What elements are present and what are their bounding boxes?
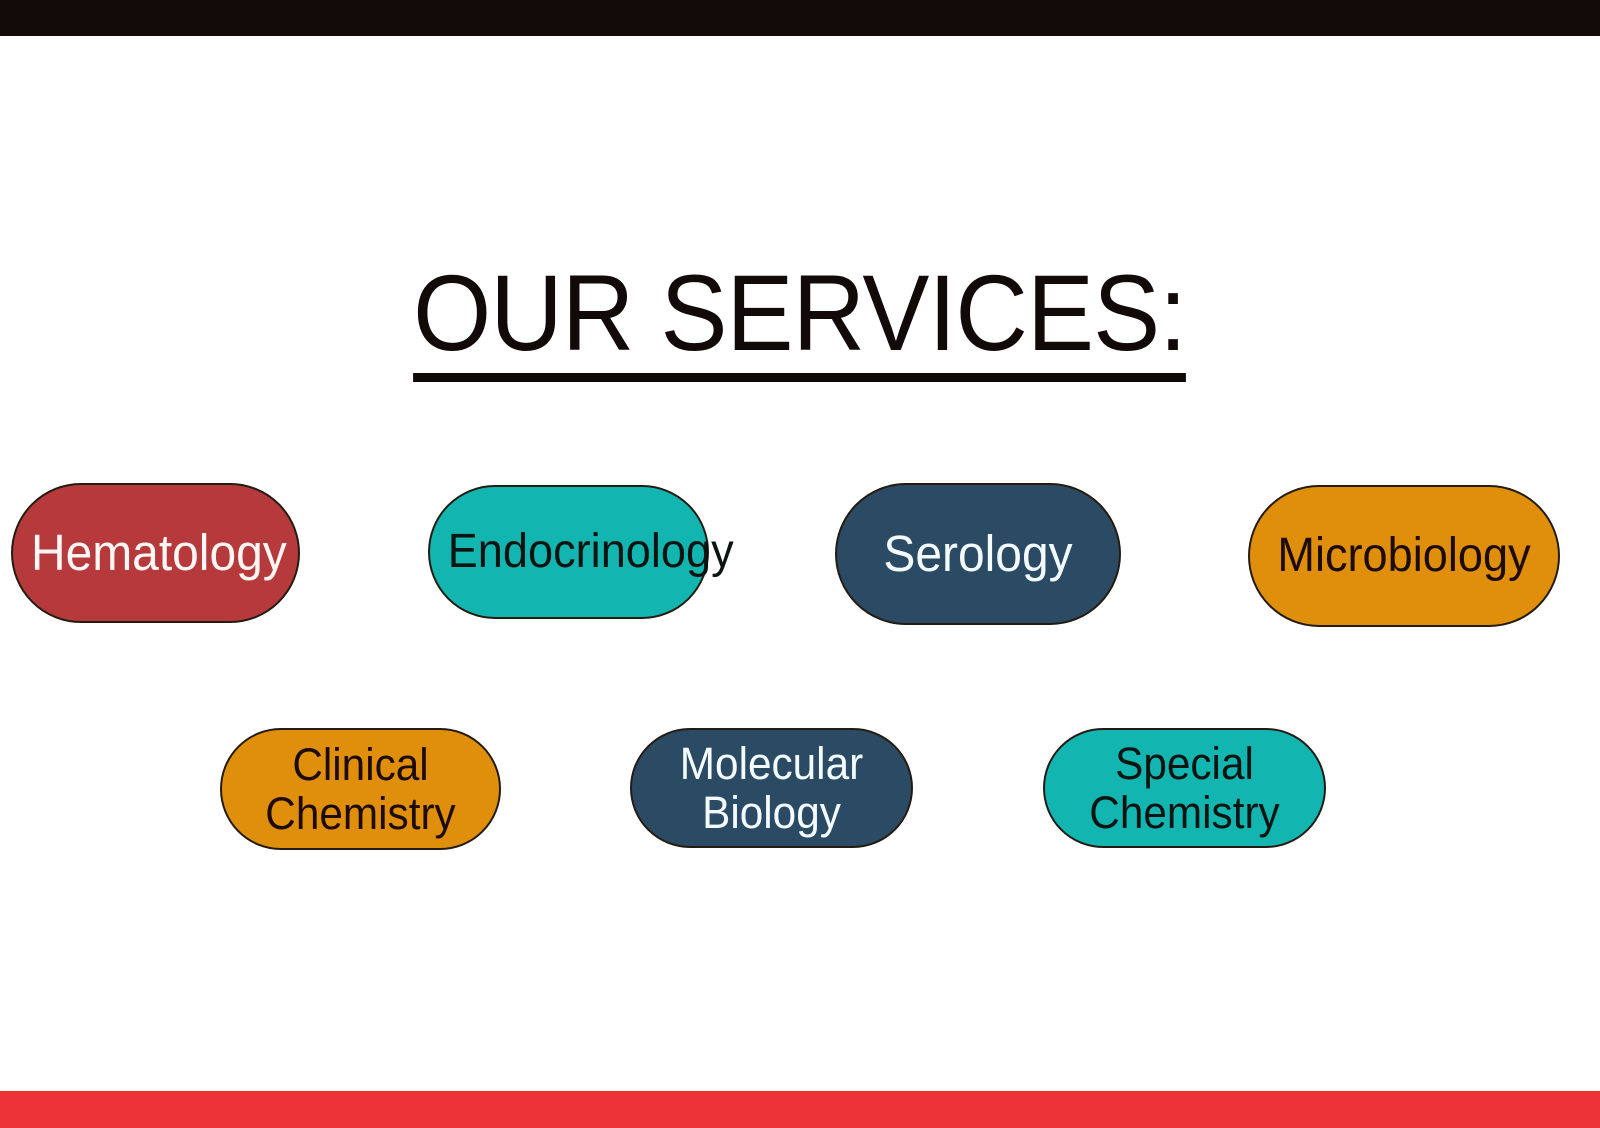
service-pill-serology[interactable]: Serology	[835, 483, 1121, 625]
service-label-serology: Serology	[855, 526, 1101, 582]
service-label-molecular-biology: Molecular Biology	[650, 739, 893, 838]
service-label-special-chemistry: Special Chemistry	[1063, 739, 1306, 838]
service-label-endocrinology: Endocrinology	[448, 526, 690, 579]
bottom-decorative-bar	[0, 1091, 1600, 1128]
service-pill-clinical-chemistry[interactable]: Clinical Chemistry	[220, 728, 501, 850]
slide-canvas: OUR SERVICES: Hematology Endocrinology S…	[0, 0, 1600, 1128]
service-pill-endocrinology[interactable]: Endocrinology	[428, 485, 709, 619]
page-title: OUR SERVICES:	[413, 256, 1186, 382]
service-pill-molecular-biology[interactable]: Molecular Biology	[630, 728, 913, 848]
slide-body: OUR SERVICES: Hematology Endocrinology S…	[0, 36, 1600, 1091]
page-title-container: OUR SERVICES:	[0, 256, 1600, 382]
service-pill-special-chemistry[interactable]: Special Chemistry	[1043, 728, 1326, 848]
service-label-microbiology: Microbiology	[1269, 530, 1540, 583]
service-pill-hematology[interactable]: Hematology	[11, 483, 300, 623]
service-pill-microbiology[interactable]: Microbiology	[1248, 485, 1560, 627]
service-label-clinical-chemistry: Clinical Chemistry	[240, 740, 482, 839]
top-decorative-bar	[0, 0, 1600, 36]
service-label-hematology: Hematology	[31, 525, 280, 581]
